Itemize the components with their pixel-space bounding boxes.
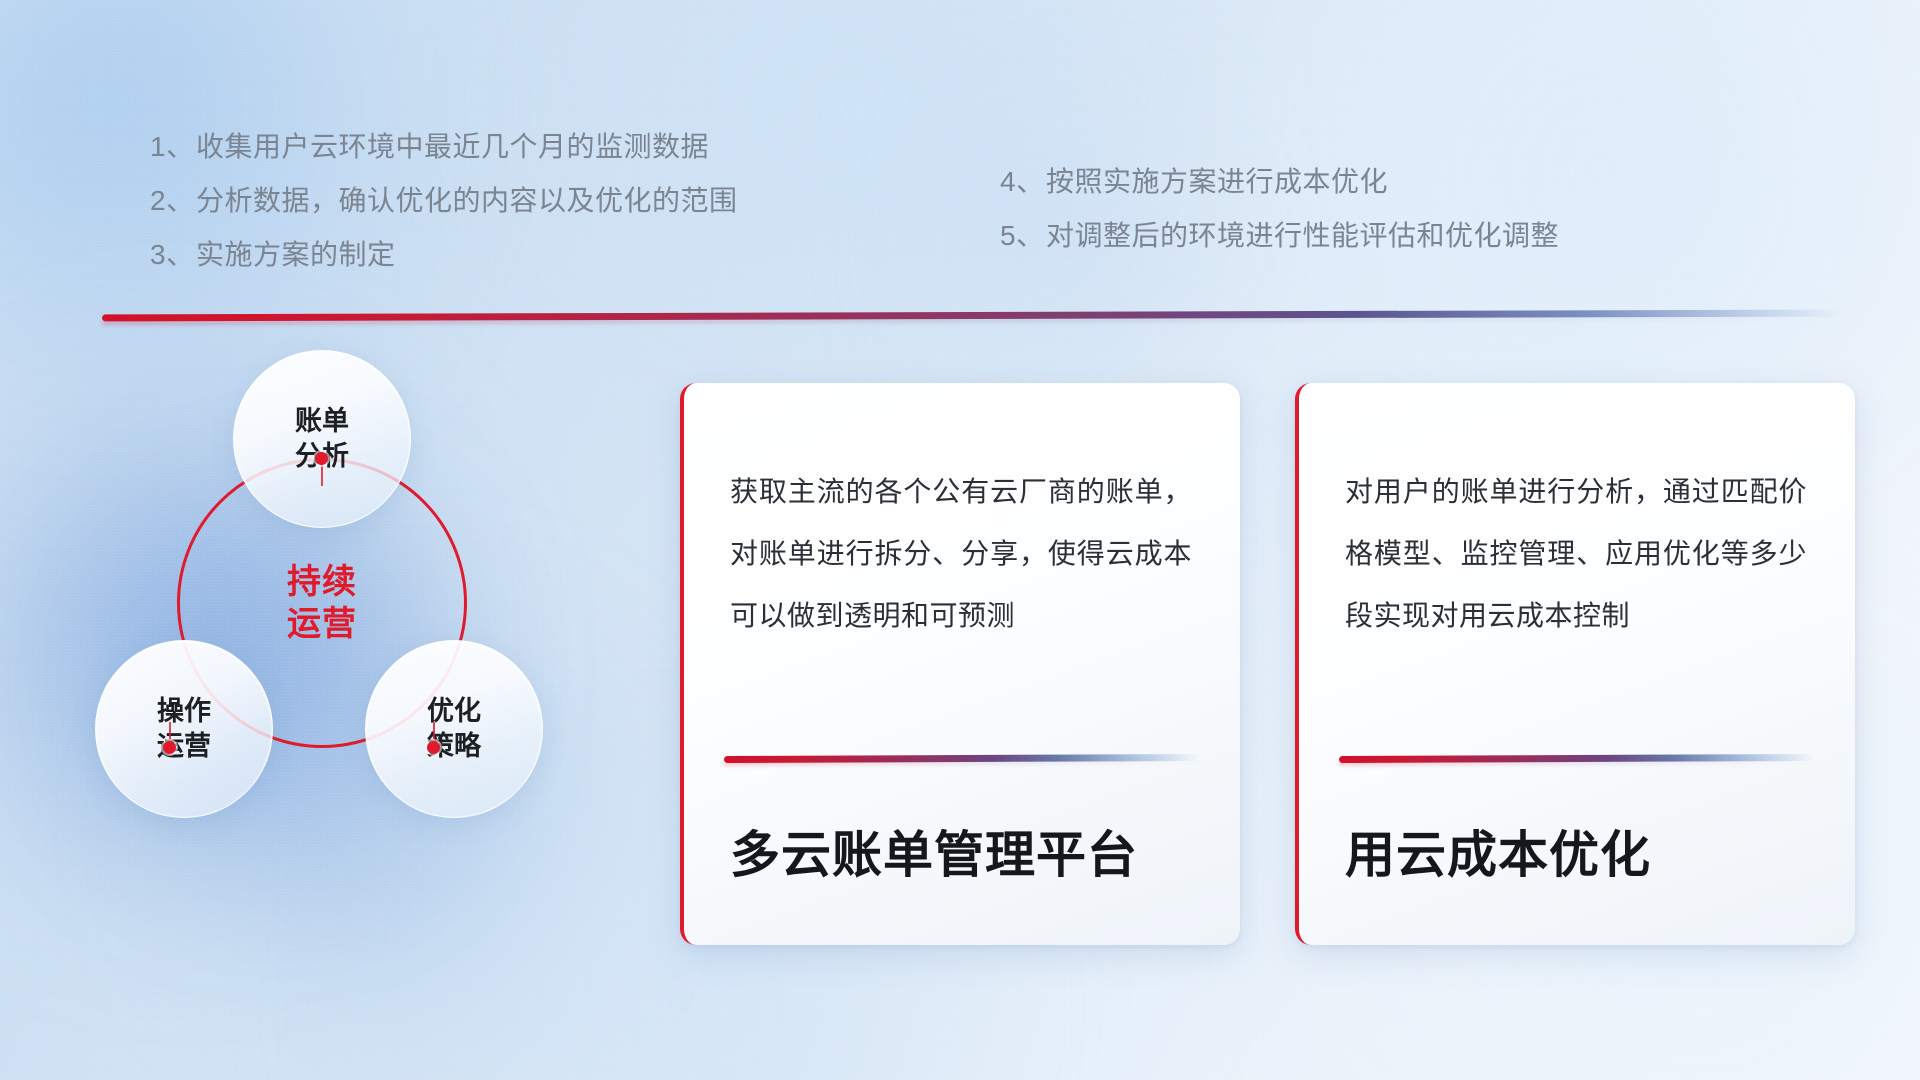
card-title: 多云账单管理平台 (730, 815, 1200, 887)
step-text: 收集用户云环境中最近几个月的监测数据 (196, 120, 709, 174)
node-dot (163, 741, 176, 754)
step-text: 按照实施方案进行成本优化 (1046, 155, 1388, 209)
card-multi-cloud-bill-platform[interactable]: 获取主流的各个公有云厂商的账单，对账单进行拆分、分享，使得云成本可以做到透明和可… (680, 383, 1240, 945)
step-item: 4、 按照实施方案进行成本优化 (1000, 155, 1559, 209)
steps-list-left: 1、 收集用户云环境中最近几个月的监测数据 2、 分析数据，确认优化的内容以及优… (150, 120, 738, 282)
step-text: 对调整后的环境进行性能评估和优化调整 (1046, 209, 1559, 263)
step-number: 1、 (150, 120, 196, 174)
step-item: 3、 实施方案的制定 (150, 228, 738, 282)
card-body-text: 对用户的账单进行分析，通过匹配价格模型、监控管理、应用优化等多少段实现对用云成本… (1345, 461, 1807, 647)
card-title: 用云成本优化 (1345, 815, 1815, 887)
step-number: 2、 (150, 174, 196, 228)
connector-tick (169, 722, 171, 742)
venn-circle-operations[interactable]: 操作 运营 (95, 640, 273, 818)
node-dot (315, 452, 328, 465)
venn-diagram: 账单 分析 操作 运营 优化 策略 持续 运营 (95, 350, 635, 940)
card-divider (724, 754, 1200, 763)
venn-circle-bill-analysis[interactable]: 账单 分析 (233, 350, 411, 528)
step-text: 分析数据，确认优化的内容以及优化的范围 (196, 174, 738, 228)
card-body-text: 获取主流的各个公有云厂商的账单，对账单进行拆分、分享，使得云成本可以做到透明和可… (730, 461, 1192, 647)
venn-circle-label: 操作 运营 (157, 694, 211, 764)
connector-tick (433, 722, 435, 742)
card-cloud-cost-optimization[interactable]: 对用户的账单进行分析，通过匹配价格模型、监控管理、应用优化等多少段实现对用云成本… (1295, 383, 1855, 945)
steps-section: 1、 收集用户云环境中最近几个月的监测数据 2、 分析数据，确认优化的内容以及优… (0, 0, 1920, 250)
step-text: 实施方案的制定 (196, 228, 396, 282)
step-number: 4、 (1000, 155, 1046, 209)
step-item: 2、 分析数据，确认优化的内容以及优化的范围 (150, 174, 738, 228)
step-number: 3、 (150, 228, 196, 282)
node-dot (427, 741, 440, 754)
steps-list-right: 4、 按照实施方案进行成本优化 5、 对调整后的环境进行性能评估和优化调整 (1000, 155, 1559, 263)
step-item: 1、 收集用户云环境中最近几个月的监测数据 (150, 120, 738, 174)
step-number: 5、 (1000, 209, 1046, 263)
connector-tick (321, 464, 323, 486)
card-divider (1339, 754, 1815, 763)
cards-section: 获取主流的各个公有云厂商的账单，对账单进行拆分、分享，使得云成本可以做到透明和可… (680, 383, 1855, 945)
step-item: 5、 对调整后的环境进行性能评估和优化调整 (1000, 209, 1559, 263)
venn-circle-optimization-strategy[interactable]: 优化 策略 (365, 640, 543, 818)
